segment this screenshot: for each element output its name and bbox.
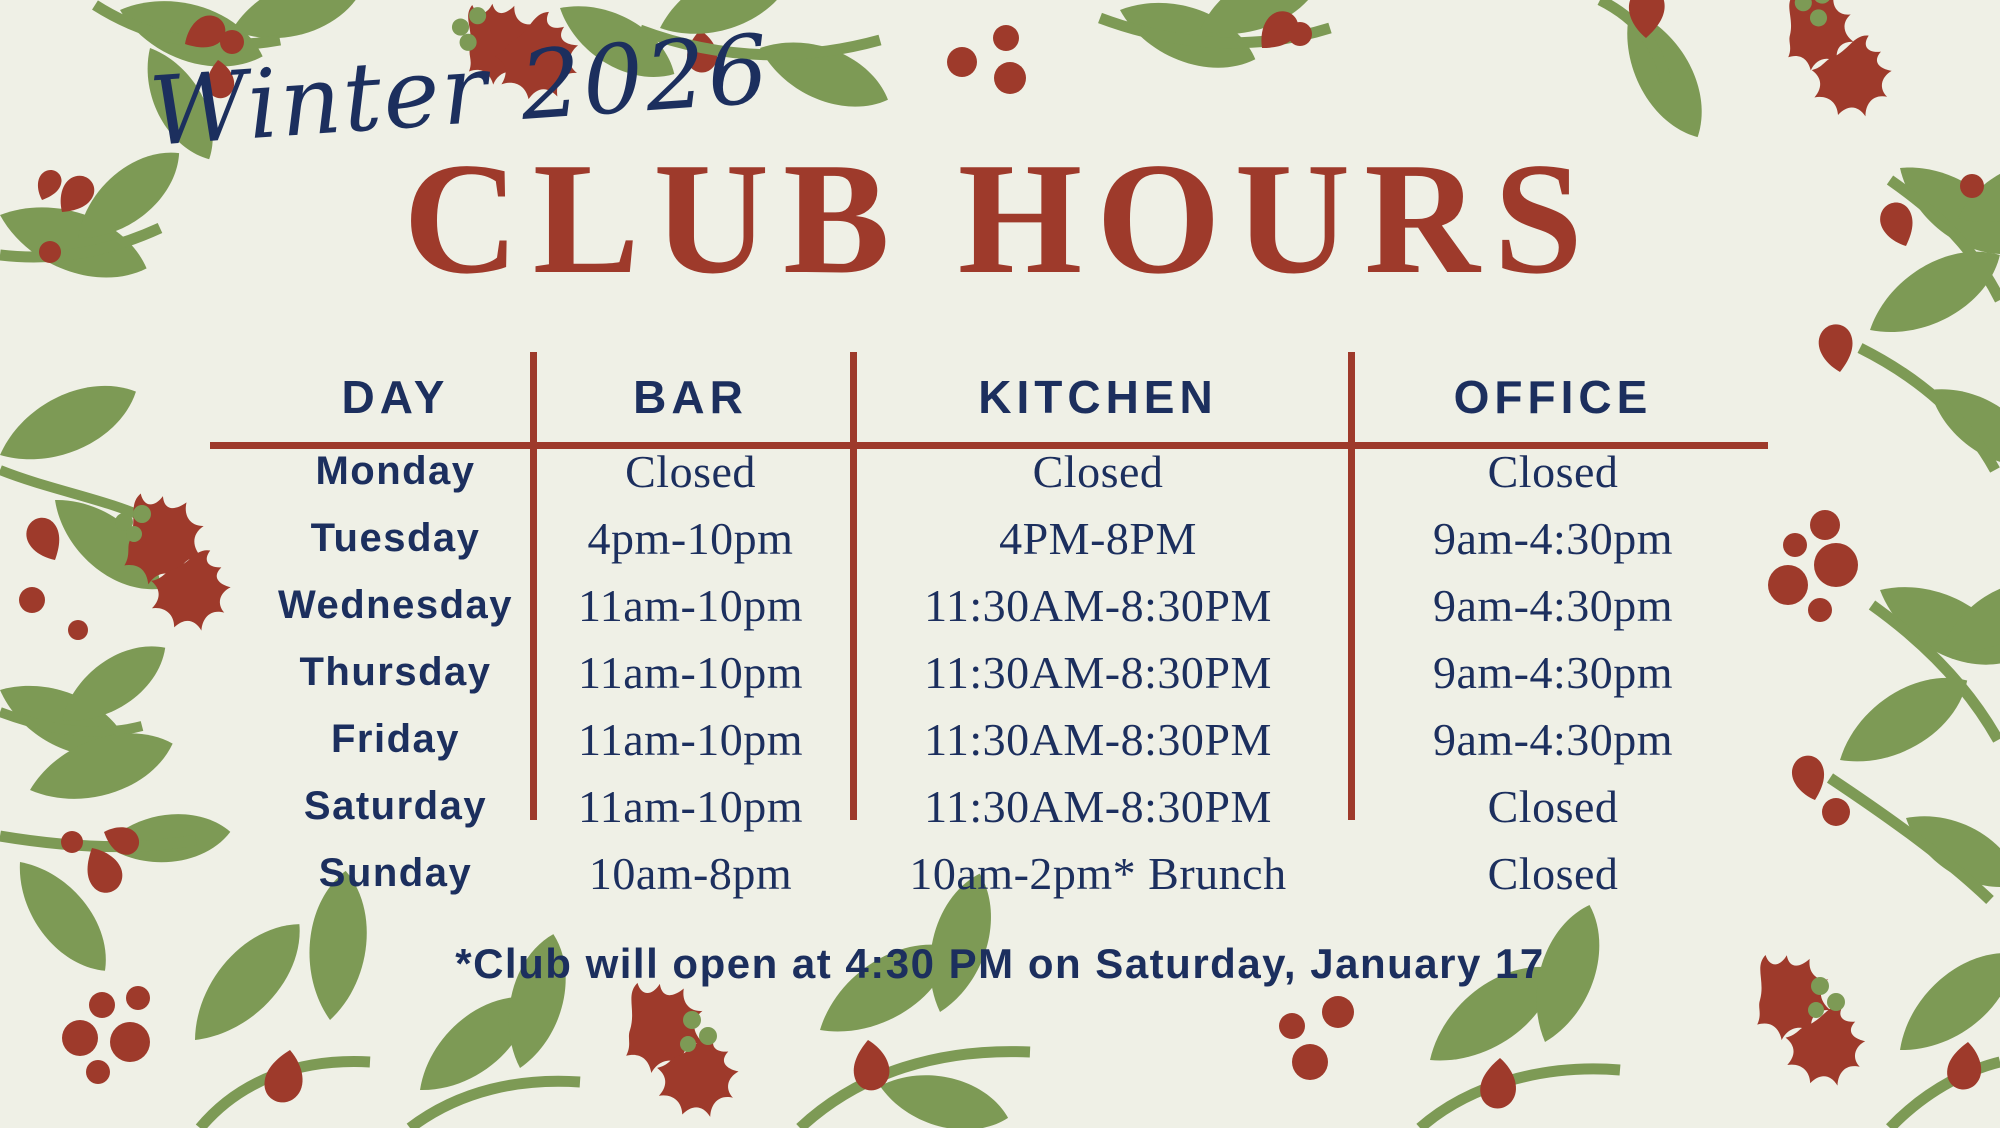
cell-office: 9am-4:30pm [1348, 639, 1758, 706]
table-row: Sunday 10am-8pm 10am-2pm* Brunch Closed [258, 840, 1758, 907]
column-divider-3 [1348, 352, 1355, 820]
cell-kitchen: 11:30AM-8:30PM [848, 706, 1348, 773]
column-header-office: OFFICE [1348, 370, 1758, 438]
hours-table: DAY BAR KITCHEN OFFICE Monday Closed Clo… [258, 370, 1758, 907]
cell-kitchen: 11:30AM-8:30PM [848, 639, 1348, 706]
column-header-kitchen: KITCHEN [848, 370, 1348, 438]
table-header-row: DAY BAR KITCHEN OFFICE [258, 370, 1758, 438]
table-grid: DAY BAR KITCHEN OFFICE Monday Closed Clo… [258, 370, 1758, 907]
cell-day: Wednesday [258, 572, 533, 639]
cell-office: 9am-4:30pm [1348, 505, 1758, 572]
column-divider-1 [530, 352, 537, 820]
cell-kitchen: 10am-2pm* Brunch [848, 840, 1348, 907]
poster-canvas: Winter 2026 CLUB HOURS DAY BAR KIT [0, 0, 2000, 1128]
cell-kitchen: 11:30AM-8:30PM [848, 773, 1348, 840]
header-divider-horizontal [210, 442, 1768, 449]
column-header-bar: BAR [533, 370, 848, 438]
hours-table-wrapper: DAY BAR KITCHEN OFFICE Monday Closed Clo… [258, 370, 1758, 907]
cell-bar: 11am-10pm [533, 706, 848, 773]
poster-content: Winter 2026 CLUB HOURS DAY BAR KIT [0, 0, 2000, 1128]
cell-office: Closed [1348, 773, 1758, 840]
cell-kitchen: 11:30AM-8:30PM [848, 572, 1348, 639]
cell-day: Tuesday [258, 505, 533, 572]
cell-bar: 11am-10pm [533, 773, 848, 840]
cell-office: 9am-4:30pm [1348, 572, 1758, 639]
cell-day: Sunday [258, 840, 533, 907]
footnote-text: *Club will open at 4:30 PM on Saturday, … [0, 940, 2000, 988]
table-row: Saturday 11am-10pm 11:30AM-8:30PM Closed [258, 773, 1758, 840]
column-divider-2 [850, 352, 857, 820]
cell-bar: 11am-10pm [533, 639, 848, 706]
cell-bar: 10am-8pm [533, 840, 848, 907]
cell-bar: 11am-10pm [533, 572, 848, 639]
cell-office: 9am-4:30pm [1348, 706, 1758, 773]
cell-day: Saturday [258, 773, 533, 840]
table-row: Friday 11am-10pm 11:30AM-8:30PM 9am-4:30… [258, 706, 1758, 773]
cell-day: Thursday [258, 639, 533, 706]
table-row: Thursday 11am-10pm 11:30AM-8:30PM 9am-4:… [258, 639, 1758, 706]
cell-kitchen: 4PM-8PM [848, 505, 1348, 572]
table-row: Tuesday 4pm-10pm 4PM-8PM 9am-4:30pm [258, 505, 1758, 572]
cell-day: Friday [258, 706, 533, 773]
page-title: CLUB HOURS [0, 138, 2000, 298]
cell-office: Closed [1348, 840, 1758, 907]
table-row: Wednesday 11am-10pm 11:30AM-8:30PM 9am-4… [258, 572, 1758, 639]
cell-bar: 4pm-10pm [533, 505, 848, 572]
column-header-day: DAY [258, 370, 533, 438]
